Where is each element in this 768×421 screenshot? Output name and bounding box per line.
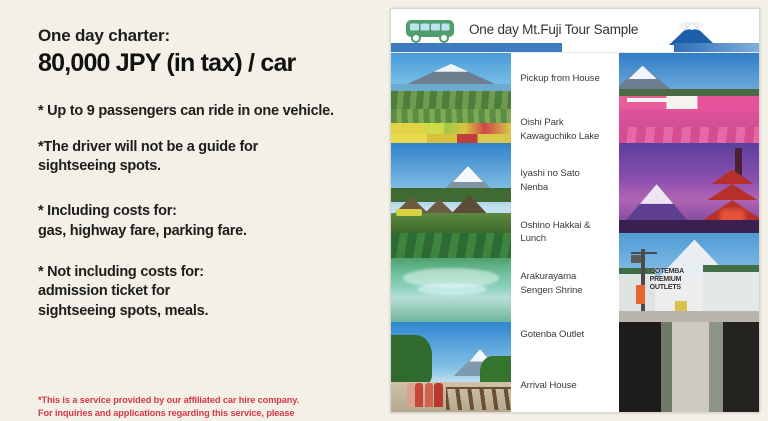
- left-photo-column: [391, 53, 511, 412]
- oshino-hakkai-pond-photo: [391, 233, 511, 323]
- header-band-right: [674, 43, 760, 52]
- itinerary-item-pickup[interactable]: Pickup from House: [511, 53, 618, 104]
- offer-subtitle: One day charter:: [38, 26, 378, 46]
- itinerary-item-arrival-house[interactable]: Arrival House: [511, 361, 618, 412]
- gotemba-sign-line2: PREMIUM: [650, 276, 723, 284]
- itinerary-item-iyashi-no-sato[interactable]: Iyashi no Sato Nenba: [511, 156, 618, 207]
- itinerary-oshino-line2: Lunch: [520, 233, 546, 244]
- itinerary-arrival-line1: Arrival House: [520, 380, 576, 391]
- arrival-house-photo: [619, 322, 759, 412]
- bullet-driver-line2: sightseeing spots.: [38, 157, 378, 176]
- offer-price-heading: 80,000 JPY (in tax) / car: [38, 48, 378, 79]
- itinerary-arakurayama-line1: Arakurayama: [520, 271, 576, 282]
- bullet-including-line2: gas, highway fare, parking fare.: [38, 222, 378, 241]
- bullet-capacity: * Up to 9 passengers can ride in one veh…: [38, 102, 378, 121]
- itinerary-iyashi-line2: Nenba: [520, 182, 548, 193]
- gotemba-outlets-sign-text: GOTEMBA PREMIUM OUTLETS: [650, 268, 723, 295]
- bullet-driver-not-guide: *The driver will not be a guide for sigh…: [38, 138, 378, 177]
- right-photo-column: GOTEMBA PREMIUM OUTLETS: [619, 53, 759, 412]
- arakurayama-shrine-walkway-photo: [391, 322, 511, 412]
- footnote-line-1: *This is a service provided by our affil…: [38, 394, 383, 407]
- oishi-park-flower-garden-photo: [391, 53, 511, 143]
- gotemba-sign-line3: OUTLETS: [650, 284, 723, 292]
- bullet-including-costs: * Including costs for: gas, highway fare…: [38, 202, 378, 241]
- itinerary-item-arakurayama[interactable]: Arakurayama Sengen Shrine: [511, 258, 618, 309]
- itinerary-gotenba-line1: Gotenba Outlet: [520, 329, 584, 340]
- itinerary-item-oishi-park[interactable]: Oishi Park Kawaguchiko Lake: [511, 104, 618, 155]
- shibazakura-pink-field-photo: [619, 53, 759, 143]
- bullet-driver-line1: *The driver will not be a guide for: [38, 139, 258, 155]
- bullet-not-including-line1: * Not including costs for:: [38, 264, 204, 280]
- header-band-left: [391, 43, 562, 52]
- tour-sample-panel: One day Mt.Fuji Tour Sample: [390, 8, 760, 413]
- bullet-capacity-line1: * Up to 9 passengers can ride in one veh…: [38, 103, 334, 119]
- tour-itinerary-grid: Pickup from House Oishi Park Kawaguchiko…: [391, 53, 759, 412]
- itinerary-item-gotenba-outlet[interactable]: Gotenba Outlet: [511, 309, 618, 360]
- bullet-not-including-costs: * Not including costs for: admission tic…: [38, 263, 378, 321]
- tour-panel-title: One day Mt.Fuji Tour Sample: [469, 22, 638, 37]
- itinerary-oishi-line1: Oishi Park: [520, 117, 563, 128]
- offer-text-panel: One day charter: 80,000 JPY (in tax) / c…: [0, 0, 390, 421]
- chureito-pagoda-photo: [619, 143, 759, 233]
- iyashi-no-sato-thatched-houses-photo: [391, 143, 511, 233]
- bullet-including-line1: * Including costs for:: [38, 203, 177, 219]
- itinerary-label-column: Pickup from House Oishi Park Kawaguchiko…: [511, 53, 618, 412]
- itinerary-iyashi-line1: Iyashi no Sato: [520, 168, 579, 179]
- itinerary-pickup-line1: Pickup from House: [520, 73, 599, 84]
- footnote-line-2: For inquiries and applications regarding…: [38, 407, 383, 420]
- bullet-not-including-line2: admission ticket for: [38, 282, 378, 301]
- itinerary-oshino-line1: Oshino Hakkai &: [520, 220, 590, 231]
- tour-panel-header: One day Mt.Fuji Tour Sample: [391, 9, 759, 53]
- bullet-not-including-line3: sightseeing spots, meals.: [38, 302, 378, 321]
- itinerary-arakurayama-line2: Sengen Shrine: [520, 285, 582, 296]
- gotemba-premium-outlets-photo: GOTEMBA PREMIUM OUTLETS: [619, 233, 759, 323]
- itinerary-oishi-line2: Kawaguchiko Lake: [520, 131, 599, 142]
- itinerary-item-oshino-hakkai[interactable]: Oshino Hakkai & Lunch: [511, 207, 618, 258]
- affiliate-footnote: *This is a service provided by our affil…: [38, 394, 383, 421]
